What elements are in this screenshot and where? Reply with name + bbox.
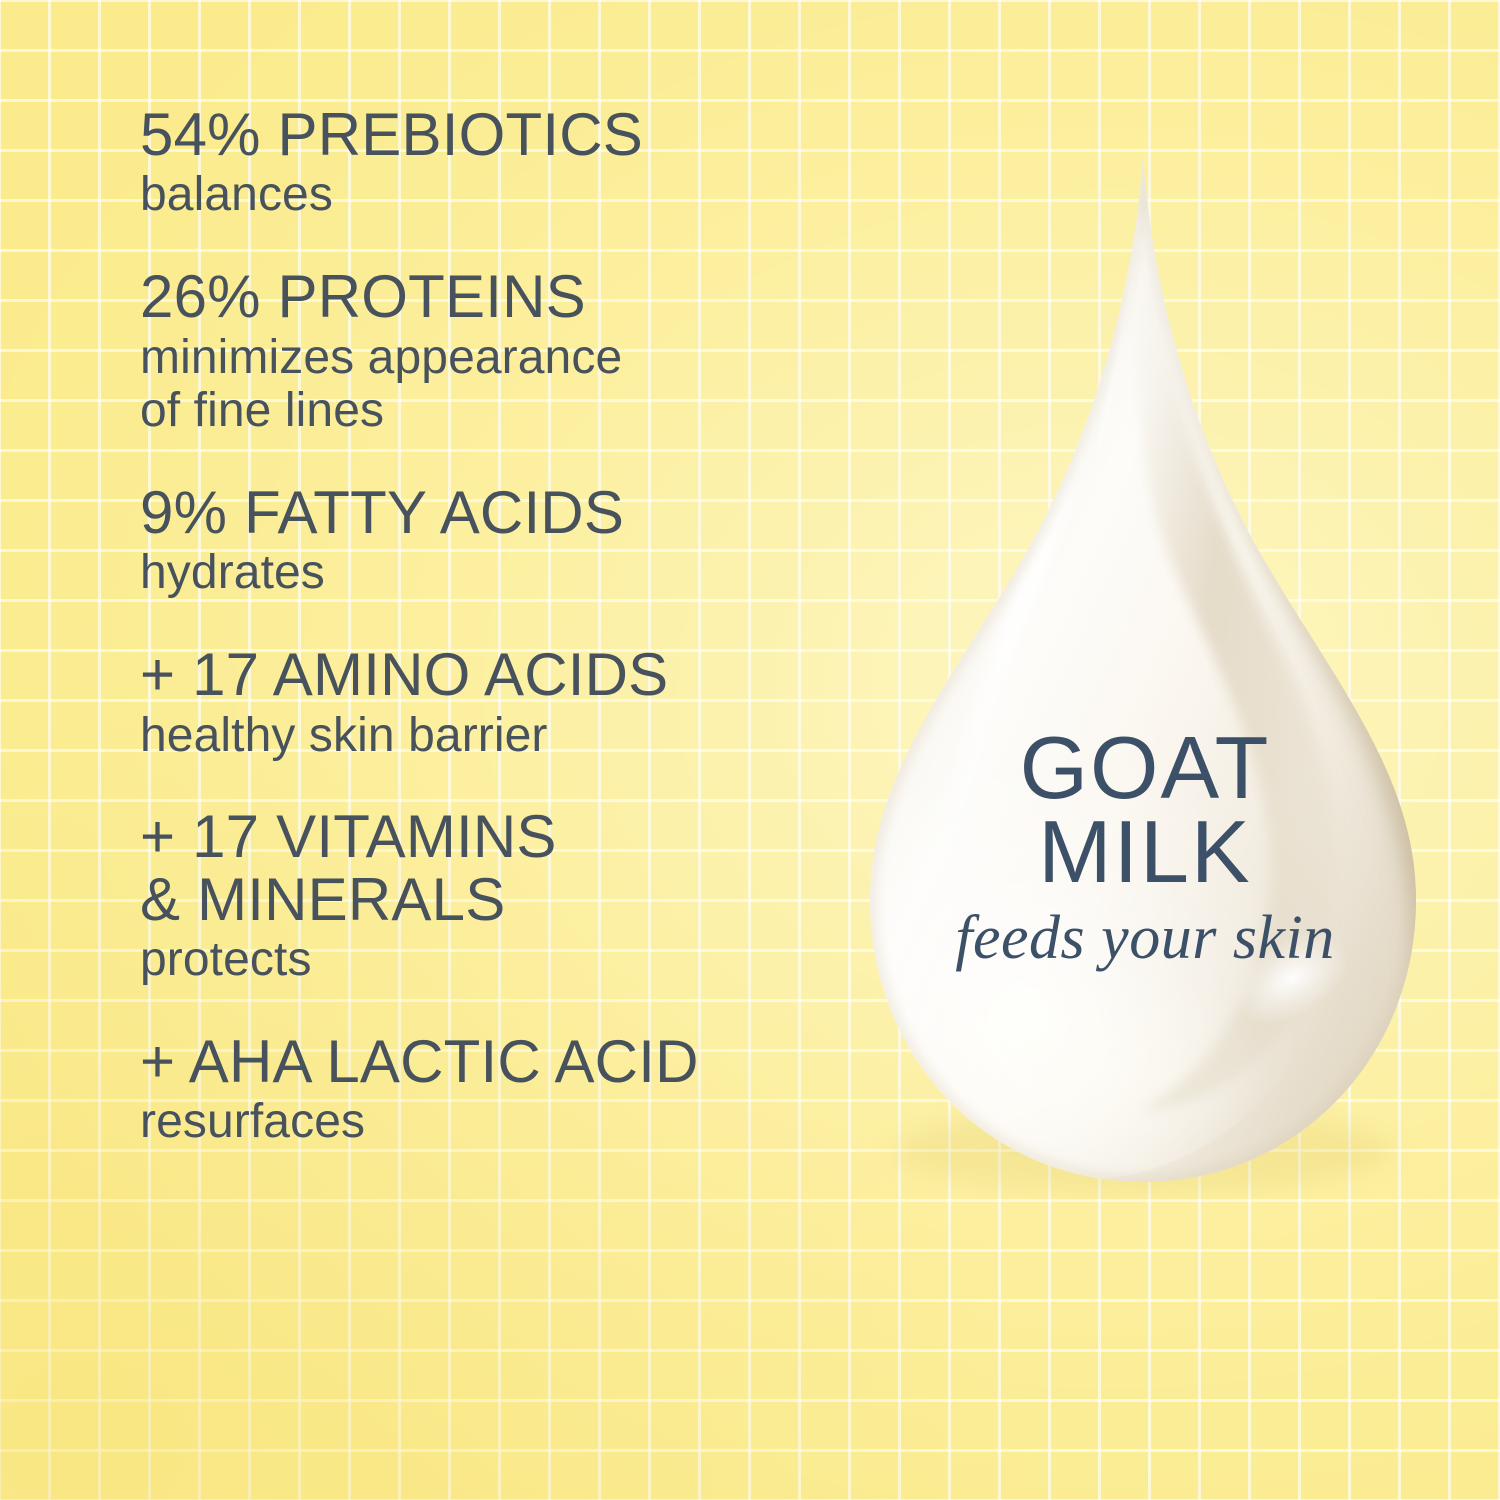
ingredient-title: + 17 VITAMINS & MINERALS: [140, 806, 840, 931]
ingredient-benefit: protects: [140, 933, 840, 987]
ingredient-title: 9% FATTY ACIDS: [140, 482, 840, 544]
ingredient-benefit: balances: [140, 168, 840, 222]
ingredient-item-vitamins-minerals: + 17 VITAMINS & MINERALS protects: [140, 806, 840, 987]
infographic-canvas: 54% PREBIOTICS balances 26% PROTEINS min…: [0, 0, 1500, 1500]
ingredient-title: + 17 AMINO ACIDS: [140, 644, 840, 706]
ingredient-title: 26% PROTEINS: [140, 266, 840, 328]
ingredient-list: 54% PREBIOTICS balances 26% PROTEINS min…: [140, 104, 840, 1149]
ingredient-benefit: hydrates: [140, 546, 840, 600]
ingredient-item-prebiotics: 54% PREBIOTICS balances: [140, 104, 840, 222]
ingredient-benefit: healthy skin barrier: [140, 709, 840, 763]
ingredient-title: 54% PREBIOTICS: [140, 104, 840, 166]
ingredient-benefit: resurfaces: [140, 1095, 840, 1149]
ingredient-item-aha-lactic-acid: + AHA LACTIC ACID resurfaces: [140, 1031, 840, 1149]
ingredient-item-fatty-acids: 9% FATTY ACIDS hydrates: [140, 482, 840, 600]
ingredient-item-amino-acids: + 17 AMINO ACIDS healthy skin barrier: [140, 644, 840, 762]
milk-droplet-icon: [840, 140, 1450, 1200]
milk-droplet-figure: GOAT MILK feeds your skin: [840, 140, 1450, 1200]
ingredient-title: + AHA LACTIC ACID: [140, 1031, 840, 1093]
ingredient-item-proteins: 26% PROTEINS minimizes appearance of fin…: [140, 266, 840, 438]
ingredient-benefit: minimizes appearance of fine lines: [140, 331, 840, 439]
